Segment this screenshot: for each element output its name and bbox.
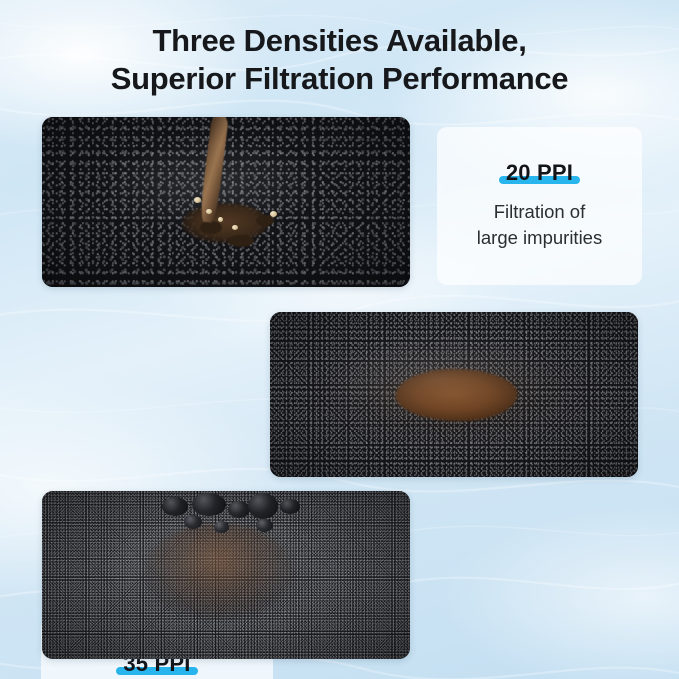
- density-row-35ppi: 35 PPI Retention of finer suspended part…: [0, 305, 679, 483]
- foam-surface-medium: [270, 312, 638, 477]
- foam-vignette: [42, 117, 410, 287]
- page-title: Three Densities Available, Superior Filt…: [0, 22, 679, 98]
- density-description-line-1: Filtration of: [494, 201, 586, 222]
- page-title-line-1: Three Densities Available,: [0, 22, 679, 60]
- foam-surface-fine: [42, 491, 410, 659]
- foam-vignette: [42, 491, 410, 659]
- foam-vignette: [270, 312, 638, 477]
- density-description-line-2: large impurities: [477, 227, 602, 248]
- density-row-20ppi: 20 PPI Filtration of large impurities: [0, 113, 679, 291]
- ppi-value: 20 PPI: [506, 160, 573, 185]
- ppi-badge-20: 20 PPI: [506, 161, 573, 185]
- page-title-line-2: Superior Filtration Performance: [0, 60, 679, 98]
- foam-photo-35ppi: [270, 312, 638, 477]
- density-row-50ppi: 50 PPI Intercepts micron-sized particles: [0, 487, 679, 659]
- foam-surface-coarse: [42, 117, 410, 287]
- density-description: Filtration of large impurities: [477, 199, 602, 251]
- density-card-20ppi: 20 PPI Filtration of large impurities: [437, 127, 642, 285]
- foam-photo-50ppi: [42, 491, 410, 659]
- foam-photo-20ppi: [42, 117, 410, 287]
- infographic-canvas: Three Densities Available, Superior Filt…: [0, 0, 679, 679]
